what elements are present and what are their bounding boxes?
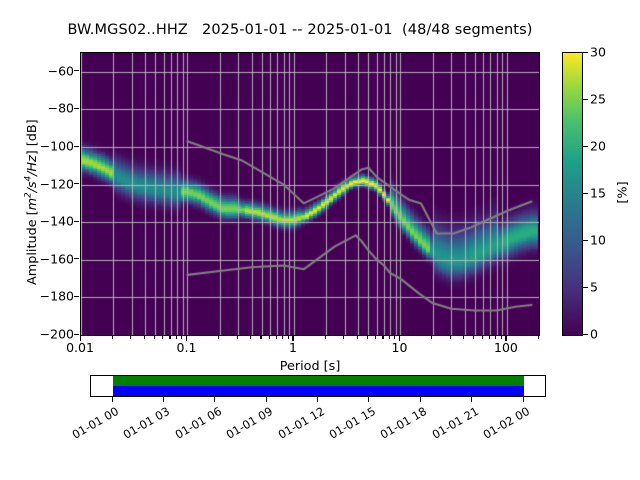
- timeline-tick-mark: [112, 397, 113, 402]
- y-axis-tick-mark: [74, 146, 79, 147]
- y-axis-tick-labels: −60−80−100−120−140−160−180−200: [34, 0, 74, 480]
- timeline-tick-mark: [214, 397, 215, 402]
- x-axis-tick-mark: [80, 336, 81, 341]
- timeline-tick-label: 01-01 06: [168, 404, 223, 444]
- x-axis-minor-tick: [389, 336, 390, 339]
- colorbar-tick-mark: [583, 334, 588, 335]
- x-axis-minor-tick: [169, 336, 170, 339]
- y-axis-tick-label: −120: [38, 176, 74, 191]
- x-axis-minor-tick: [367, 336, 368, 339]
- x-axis-tick-label: 100: [494, 340, 518, 355]
- colorbar-tick-mark: [583, 99, 588, 100]
- x-axis-minor-tick: [482, 336, 483, 339]
- timeline-tick-label: 01-01 15: [322, 404, 377, 444]
- y-axis-tick-label: −140: [38, 214, 74, 229]
- x-axis-minor-tick: [162, 336, 163, 339]
- x-axis-minor-tick: [154, 336, 155, 339]
- ppsd-figure: BW.MGS02..HHZ 2025-01-01 -- 2025-01-01 (…: [0, 0, 640, 480]
- colorbar-tick-label: 15: [590, 186, 606, 201]
- timeline-tick-label: 01-01 21: [425, 404, 480, 444]
- x-axis-minor-tick: [473, 336, 474, 339]
- x-axis-minor-tick: [130, 336, 131, 339]
- x-axis-minor-tick: [144, 336, 145, 339]
- colorbar-tick-mark: [583, 287, 588, 288]
- x-axis-tick-mark: [292, 336, 293, 341]
- colorbar-tick-label: 5: [590, 280, 598, 295]
- colorbar-tick-mark: [583, 52, 588, 53]
- x-axis-minor-tick: [538, 336, 539, 339]
- colorbar-tick-label: 10: [590, 233, 606, 248]
- x-axis-tick-label: 0.01: [66, 340, 94, 355]
- x-axis-tick-label: 1: [289, 340, 297, 355]
- x-axis-minor-tick: [501, 336, 502, 339]
- x-axis-tick-label: 0.1: [177, 340, 197, 355]
- x-axis-minor-tick: [269, 336, 270, 339]
- timeline-tick-mark: [471, 397, 472, 402]
- page-title: BW.MGS02..HHZ 2025-01-01 -- 2025-01-01 (…: [0, 22, 600, 38]
- y-axis-tick-mark: [74, 221, 79, 222]
- y-axis-tick-mark: [74, 183, 79, 184]
- y-axis-tick-mark: [74, 334, 79, 335]
- x-axis-tick-mark: [186, 336, 187, 341]
- y-axis-tick-label: −180: [38, 289, 74, 304]
- x-axis-minor-tick: [343, 336, 344, 339]
- x-axis-minor-tick: [288, 336, 289, 339]
- timeline-tick-mark: [317, 397, 318, 402]
- colorbar-tick-label: 30: [590, 45, 606, 60]
- x-axis-minor-tick: [181, 336, 182, 339]
- x-axis-minor-tick: [375, 336, 376, 339]
- colorbar-tick-mark: [583, 240, 588, 241]
- x-axis-minor-tick: [282, 336, 283, 339]
- y-axis-tick-label: −160: [38, 251, 74, 266]
- segment-timeline[interactable]: [90, 375, 546, 397]
- x-axis-minor-tick: [112, 336, 113, 339]
- timeline-tick-mark: [266, 397, 267, 402]
- timeline-tick-label: 01-01 18: [374, 404, 429, 444]
- timeline-bar-blue: [113, 386, 524, 396]
- timeline-tick-label: 01-01 09: [220, 404, 275, 444]
- colorbar-tick-label: 20: [590, 139, 606, 154]
- x-axis-minor-tick: [463, 336, 464, 339]
- x-axis-minor-tick: [450, 336, 451, 339]
- y-axis-tick-label: −80: [38, 101, 74, 116]
- x-axis-tick-mark: [505, 336, 506, 341]
- x-axis-minor-tick: [489, 336, 490, 339]
- timeline-tick-label: 01-01 12: [271, 404, 326, 444]
- y-axis-tick-mark: [74, 258, 79, 259]
- x-axis-minor-tick: [250, 336, 251, 339]
- timeline-tick-label: 01-01 03: [117, 404, 172, 444]
- timeline-bar-green: [113, 376, 524, 386]
- colorbar-tick-mark: [583, 146, 588, 147]
- y-axis-tick-label: −100: [38, 139, 74, 154]
- x-axis-minor-tick: [260, 336, 261, 339]
- x-axis-minor-tick: [382, 336, 383, 339]
- x-axis-label: Period [s]: [80, 359, 540, 374]
- timeline-tick-mark: [163, 397, 164, 402]
- x-axis-minor-tick: [431, 336, 432, 339]
- y-axis-tick-mark: [74, 296, 79, 297]
- noise-model-curves: [81, 53, 539, 335]
- colorbar-tick-label: 25: [590, 92, 606, 107]
- x-axis-minor-tick: [357, 336, 358, 339]
- x-axis-minor-tick: [325, 336, 326, 339]
- colorbar-unit-label: [%]: [616, 181, 631, 203]
- x-axis-minor-tick: [394, 336, 395, 339]
- y-axis-tick-label: −60: [38, 63, 74, 78]
- x-axis-minor-tick: [237, 336, 238, 339]
- x-axis-tick-mark: [399, 336, 400, 341]
- y-axis-tick-mark: [74, 108, 79, 109]
- timeline-tick-label: 01-02 00: [477, 404, 532, 444]
- x-axis-tick-label: 10: [392, 340, 408, 355]
- x-axis-minor-tick: [176, 336, 177, 339]
- x-axis-minor-tick: [218, 336, 219, 339]
- timeline-tick-mark: [523, 397, 524, 402]
- x-axis-minor-tick: [276, 336, 277, 339]
- colorbar-tick-label: 0: [590, 327, 598, 342]
- x-axis-minor-tick: [495, 336, 496, 339]
- colorbar[interactable]: [562, 52, 583, 336]
- y-axis-tick-mark: [74, 70, 79, 71]
- timeline-tick-mark: [368, 397, 369, 402]
- timeline-tick-mark: [420, 397, 421, 402]
- colorbar-tick-mark: [583, 193, 588, 194]
- ppsd-plot-area[interactable]: [80, 52, 540, 336]
